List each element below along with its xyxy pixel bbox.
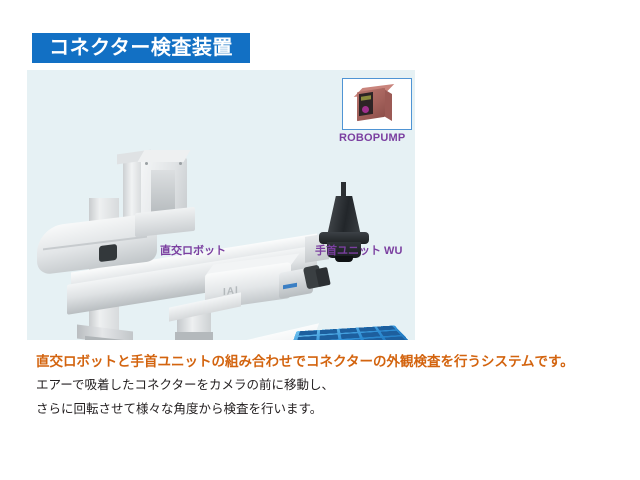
mast-slider-shape: [135, 207, 195, 237]
tray-slot: [341, 333, 360, 339]
robopump-inset-frame: [342, 78, 412, 130]
tray-slot: [363, 338, 384, 340]
housing-bolt-icon: [179, 162, 182, 165]
tray-slot: [358, 327, 376, 332]
tray-slot: [377, 326, 396, 331]
system-photo-panel: IAI ROBOPUMP 直交ロボット 手首ユニット WU: [27, 70, 415, 340]
callout-wrist-unit: 手首ユニット WU: [315, 242, 402, 258]
robopump-label: ROBOPUMP: [339, 132, 405, 144]
caption-block: 直交ロボットと手首ユニットの組み合わせでコネクターの外観検査を行うシステムです。…: [36, 352, 616, 422]
cowl-port-shape: [99, 244, 117, 262]
tray-slot: [384, 336, 406, 340]
caption-line-2: さらに回転させて様々な角度から検査を行います。: [36, 397, 616, 421]
camera-cone-shape: [327, 196, 361, 236]
robopump-dial-icon: [362, 106, 369, 113]
housing-bolt-icon: [145, 162, 148, 165]
worktable-band-shape: [175, 332, 213, 340]
wrist-unit-tip-shape: [315, 267, 330, 287]
tray-slot: [299, 330, 318, 335]
page-title: コネクター検査装置: [49, 38, 233, 58]
tray-slot: [320, 329, 338, 334]
caption-lead: 直交ロボットと手首ユニットの組み合わせでコネクターの外観検査を行うシステムです。: [36, 352, 616, 373]
page-title-banner: コネクター検査装置: [32, 33, 250, 63]
callout-cartesian-robot: 直交ロボット: [160, 242, 226, 258]
caption-line-1: エアーで吸着したコネクターをカメラの前に移動し、: [36, 373, 616, 397]
tray-slot: [380, 331, 400, 336]
tray-slot: [361, 332, 381, 338]
tray-slot: [319, 334, 338, 340]
tray-slot: [297, 336, 317, 340]
tray-slot: [340, 328, 358, 333]
tray-slot: [342, 339, 363, 340]
housing-top-shape: [138, 150, 191, 162]
